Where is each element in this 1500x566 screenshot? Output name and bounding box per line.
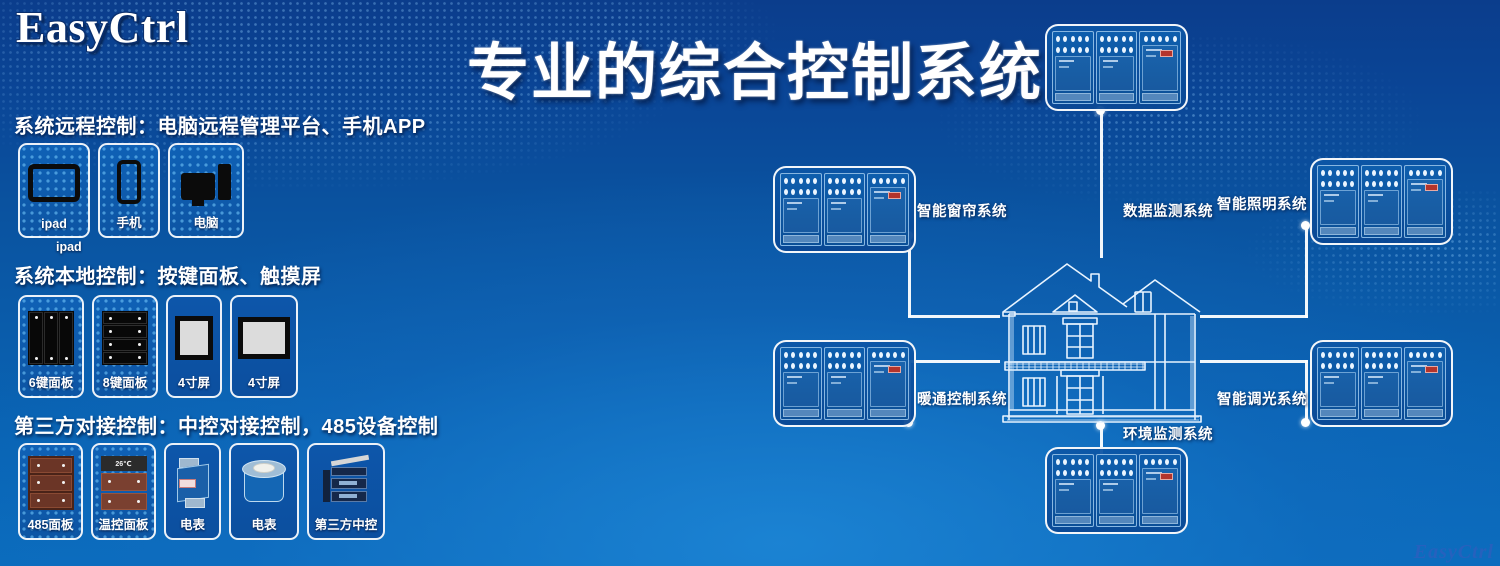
node-label-lighting: 智能照明系统 bbox=[1217, 193, 1307, 214]
device-card-label: 4寸屏 bbox=[178, 372, 210, 393]
din-device bbox=[780, 347, 822, 420]
din-device bbox=[1096, 31, 1138, 104]
smartphone-icon bbox=[117, 152, 141, 212]
device-card-label: 电表 bbox=[251, 514, 276, 535]
device-card-label: 第三方中控 bbox=[315, 514, 378, 535]
node-label-hvac: 暖通控制系统 bbox=[917, 388, 1007, 409]
device-card-phone[interactable]: 手机 bbox=[98, 143, 160, 238]
din-device bbox=[867, 173, 909, 246]
brand-logo: EasyCtrl bbox=[16, 2, 189, 53]
link-curtain-horz bbox=[908, 315, 1000, 318]
din-device bbox=[1317, 165, 1359, 238]
electric-meter-icon bbox=[173, 452, 213, 514]
thermostat-display: 26℃ bbox=[101, 456, 147, 471]
rs485-panel-icon bbox=[28, 452, 74, 514]
din-device bbox=[867, 347, 909, 420]
din-device bbox=[1404, 165, 1446, 238]
device-card-computer[interactable]: 电脑 bbox=[168, 143, 244, 238]
din-device bbox=[1404, 347, 1446, 420]
third-party-controller-icon bbox=[323, 452, 369, 514]
module-node-environment[interactable] bbox=[1045, 447, 1188, 534]
din-device bbox=[1361, 347, 1403, 420]
section-heading-remote: 系统远程控制：电脑远程管理平台、手机APP bbox=[14, 110, 426, 139]
tablet-icon bbox=[28, 152, 80, 214]
device-card-label: 电脑 bbox=[193, 212, 218, 233]
link-lighting-vert bbox=[1305, 225, 1308, 318]
eight-key-panel-icon bbox=[102, 304, 148, 372]
thermostat-panel-icon: 26℃ bbox=[101, 452, 147, 514]
link-dimming-horz bbox=[1200, 360, 1308, 363]
device-card-electric-meter[interactable]: 电表 bbox=[164, 443, 221, 540]
din-device bbox=[1052, 31, 1094, 104]
node-label-dimming: 智能调光系统 bbox=[1217, 388, 1307, 409]
section-heading-thirdparty: 第三方对接控制：中控对接控制，485设备控制 bbox=[14, 410, 438, 439]
device-card-8key-panel[interactable]: 8键面板 bbox=[92, 295, 158, 398]
device-card-4inch-screen[interactable]: 4寸屏 bbox=[166, 295, 222, 398]
device-card-label: 电表 bbox=[180, 514, 205, 535]
module-node-curtain[interactable] bbox=[773, 166, 916, 253]
din-device bbox=[1139, 454, 1181, 527]
module-node-data-monitoring[interactable] bbox=[1045, 24, 1188, 111]
device-card-round-electric-meter[interactable]: 电表 bbox=[229, 443, 299, 540]
device-card-6key-panel[interactable]: 6键面板 bbox=[18, 295, 84, 398]
link-data-vert bbox=[1100, 110, 1103, 258]
module-node-hvac[interactable] bbox=[773, 340, 916, 427]
ipad-overflow-label: ipad bbox=[56, 240, 82, 254]
din-device bbox=[824, 173, 866, 246]
din-device bbox=[1052, 454, 1094, 527]
four-inch-screen-wide-icon bbox=[238, 304, 290, 372]
link-lighting-horz bbox=[1200, 315, 1308, 318]
device-card-label: 6键面板 bbox=[29, 372, 73, 393]
desktop-computer-icon bbox=[181, 152, 231, 212]
module-node-lighting[interactable] bbox=[1310, 158, 1453, 245]
din-device bbox=[1096, 454, 1138, 527]
device-card-ipad[interactable]: ipad bbox=[18, 143, 90, 238]
six-key-panel-icon bbox=[28, 304, 74, 372]
device-card-thermostat-panel[interactable]: 26℃ 温控面板 bbox=[91, 443, 156, 540]
brand-watermark: EasyCtrl bbox=[1414, 541, 1494, 564]
banner-canvas: EasyCtrl 专业的综合控制系统 系统远程控制：电脑远程管理平台、手机APP… bbox=[0, 0, 1500, 566]
node-label-curtain: 智能窗帘系统 bbox=[917, 200, 1007, 221]
device-card-label: 手机 bbox=[116, 212, 141, 233]
din-device bbox=[1317, 347, 1359, 420]
device-card-label: 8键面板 bbox=[103, 372, 147, 393]
four-inch-screen-icon bbox=[175, 304, 213, 372]
din-device bbox=[824, 347, 866, 420]
joint-dot-dimming bbox=[1301, 418, 1310, 427]
din-device bbox=[1139, 31, 1181, 104]
round-electric-meter-icon bbox=[242, 452, 286, 514]
device-card-label: 温控面板 bbox=[98, 514, 148, 535]
villa-house-illustration bbox=[995, 250, 1210, 435]
joint-dot-lighting bbox=[1301, 221, 1310, 230]
module-node-dimming[interactable] bbox=[1310, 340, 1453, 427]
device-card-4inch-screen-wide[interactable]: 4寸屏 bbox=[230, 295, 298, 398]
din-device bbox=[1361, 165, 1403, 238]
device-card-label: 485面板 bbox=[28, 514, 74, 535]
device-card-third-party-controller[interactable]: 第三方中控 bbox=[307, 443, 385, 540]
device-card-label: ipad bbox=[41, 217, 67, 233]
node-label-data-monitoring: 数据监测系统 bbox=[1123, 200, 1213, 221]
section-heading-local: 系统本地控制：按键面板、触摸屏 bbox=[14, 260, 322, 289]
din-device bbox=[780, 173, 822, 246]
device-card-label: 4寸屏 bbox=[248, 372, 280, 393]
device-card-485-panel[interactable]: 485面板 bbox=[18, 443, 83, 540]
system-topology-diagram: 数据监测系统 智能窗帘系统 智能照明系统 暖通控制系统 智能调光系统 bbox=[740, 60, 1500, 566]
link-hvac-horz bbox=[908, 360, 1000, 363]
